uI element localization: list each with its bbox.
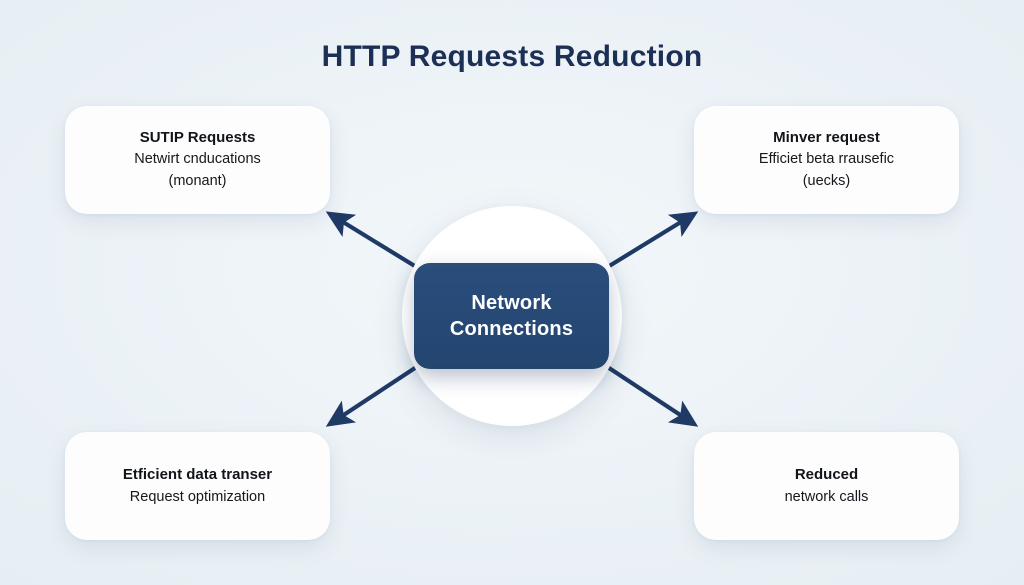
center-node-line-2: Connections [450, 316, 573, 342]
arrow-to-bottom-right [606, 366, 694, 424]
card-top-right-subtitle-1: Efficiet beta rrausefic [759, 149, 894, 171]
arrow-to-bottom-left [330, 366, 418, 424]
card-top-left-subtitle-1: Netwirt cnducations [134, 149, 261, 171]
card-top-left-subtitle-2: (monant) [168, 171, 226, 193]
center-node-network-connections[interactable]: Network Connections [414, 263, 609, 369]
center-node-line-1: Network [471, 290, 551, 316]
card-top-right[interactable]: Minver request Efficiet beta rrausefic (… [694, 106, 959, 214]
card-bottom-right-subtitle-1: network calls [785, 487, 869, 509]
diagram-canvas: HTTP Requests Reduction Network Connecti… [0, 0, 1024, 585]
arrow-to-top-left [330, 214, 418, 268]
card-top-left[interactable]: SUTIP Requests Netwirt cnducations (mona… [65, 106, 330, 214]
card-bottom-left-subtitle-1: Request optimization [130, 487, 265, 509]
card-top-right-subtitle-2: (uecks) [803, 171, 851, 193]
card-top-left-title: SUTIP Requests [140, 127, 256, 149]
card-bottom-right-title: Reduced [795, 464, 858, 486]
card-bottom-right[interactable]: Reduced network calls [694, 432, 959, 540]
card-bottom-left[interactable]: Etficient data transer Request optimizat… [65, 432, 330, 540]
card-bottom-left-title: Etficient data transer [123, 464, 272, 486]
arrow-to-top-right [606, 214, 694, 268]
card-top-right-title: Minver request [773, 127, 880, 149]
